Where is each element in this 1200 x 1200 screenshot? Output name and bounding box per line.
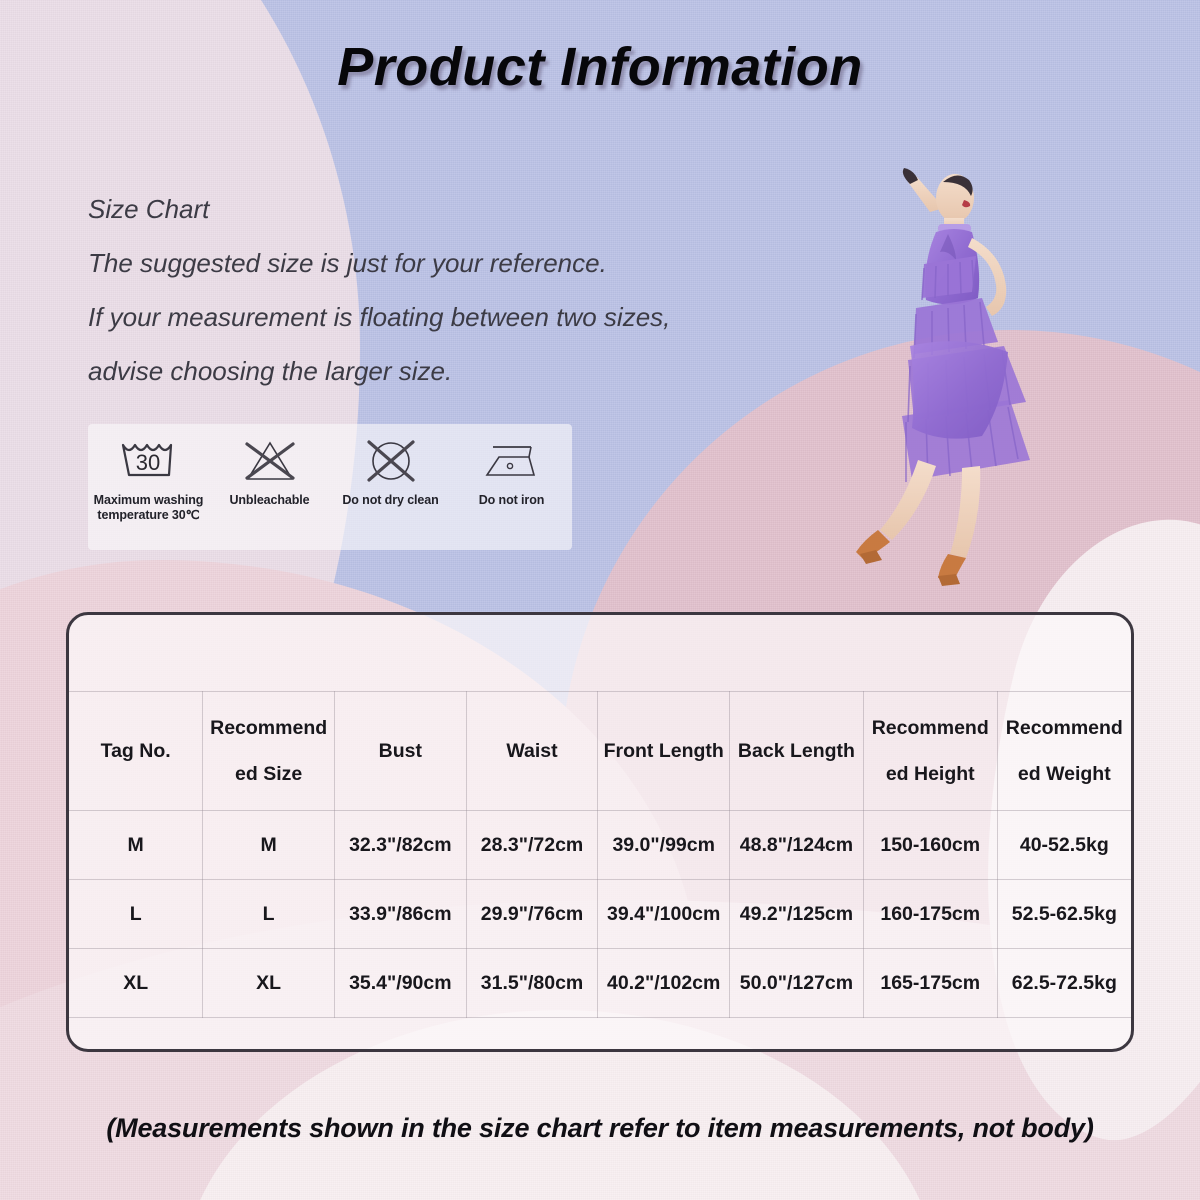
cell-bust: 35.4"/90cm: [334, 949, 466, 1018]
page-title: Product Information: [0, 36, 1200, 98]
cell-waist: 28.3"/72cm: [466, 811, 598, 880]
care-instructions-panel: 30 Maximum washing temperature 30℃ Unble…: [88, 424, 572, 550]
do-not-iron-icon: [481, 434, 543, 488]
cell-recommended-size: M: [203, 811, 335, 880]
table-row: L L 33.9"/86cm 29.9"/76cm 39.4"/100cm 49…: [69, 880, 1131, 949]
care-label-wash: Maximum washing temperature 30℃: [88, 493, 209, 523]
cell-bust: 33.9"/86cm: [334, 880, 466, 949]
care-label-dry-clean: Do not dry clean: [342, 493, 438, 508]
model-photo: [812, 168, 1102, 598]
intro-line-1: The suggested size is just for your refe…: [88, 236, 848, 290]
column-header-back-length: Back Length: [730, 692, 864, 811]
wash-tub-30-icon: 30: [117, 434, 181, 488]
column-header-bust: Bust: [334, 692, 466, 811]
cell-recommended-height: 160-175cm: [863, 880, 997, 949]
cell-recommended-weight: 40-52.5kg: [997, 811, 1131, 880]
cell-back-length: 48.8"/124cm: [730, 811, 864, 880]
wash-temperature-value: 30: [135, 450, 159, 475]
size-chart-intro: Size Chart The suggested size is just fo…: [88, 182, 848, 398]
column-header-recommended-height: Recommend ed Height: [863, 692, 997, 811]
size-chart-table-card: Tag No. Recommend ed Size Bust Waist Fro…: [66, 612, 1134, 1052]
intro-line-2: If your measurement is floating between …: [88, 290, 848, 344]
cell-recommended-height: 165-175cm: [863, 949, 997, 1018]
cell-recommended-size: L: [203, 880, 335, 949]
cell-front-length: 39.0"/99cm: [598, 811, 730, 880]
cell-tag-no: M: [69, 811, 203, 880]
care-item-wash: 30 Maximum washing temperature 30℃: [88, 424, 209, 523]
care-item-dry-clean: Do not dry clean: [330, 424, 451, 508]
column-header-tag-no: Tag No.: [69, 692, 203, 811]
cell-recommended-weight: 62.5-72.5kg: [997, 949, 1131, 1018]
cell-back-length: 49.2"/125cm: [730, 880, 864, 949]
column-header-waist: Waist: [466, 692, 598, 811]
table-row: M M 32.3"/82cm 28.3"/72cm 39.0"/99cm 48.…: [69, 811, 1131, 880]
cell-waist: 29.9"/76cm: [466, 880, 598, 949]
product-information-page: Product Information Size Chart The sugge…: [0, 0, 1200, 1200]
cell-recommended-height: 150-160cm: [863, 811, 997, 880]
cell-bust: 32.3"/82cm: [334, 811, 466, 880]
no-bleach-icon: [241, 434, 299, 488]
size-chart-table: Tag No. Recommend ed Size Bust Waist Fro…: [69, 691, 1131, 1018]
cell-tag-no: XL: [69, 949, 203, 1018]
column-header-recommended-weight: Recommend ed Weight: [997, 692, 1131, 811]
cell-recommended-size: XL: [203, 949, 335, 1018]
care-label-iron: Do not iron: [479, 493, 545, 508]
cell-waist: 31.5"/80cm: [466, 949, 598, 1018]
care-item-bleach: Unbleachable: [209, 424, 330, 508]
care-label-bleach: Unbleachable: [229, 493, 309, 508]
table-header-row: Tag No. Recommend ed Size Bust Waist Fro…: [69, 692, 1131, 811]
cell-front-length: 40.2"/102cm: [598, 949, 730, 1018]
measurement-footnote: (Measurements shown in the size chart re…: [0, 1113, 1200, 1144]
cell-recommended-weight: 52.5-62.5kg: [997, 880, 1131, 949]
intro-line-3: advise choosing the larger size.: [88, 344, 848, 398]
care-item-iron: Do not iron: [451, 424, 572, 508]
cell-tag-no: L: [69, 880, 203, 949]
cell-front-length: 39.4"/100cm: [598, 880, 730, 949]
column-header-recommended-size: Recommend ed Size: [203, 692, 335, 811]
table-row: XL XL 35.4"/90cm 31.5"/80cm 40.2"/102cm …: [69, 949, 1131, 1018]
cell-back-length: 50.0"/127cm: [730, 949, 864, 1018]
column-header-front-length: Front Length: [598, 692, 730, 811]
no-dry-clean-icon: [364, 434, 418, 488]
size-chart-heading: Size Chart: [88, 182, 848, 236]
